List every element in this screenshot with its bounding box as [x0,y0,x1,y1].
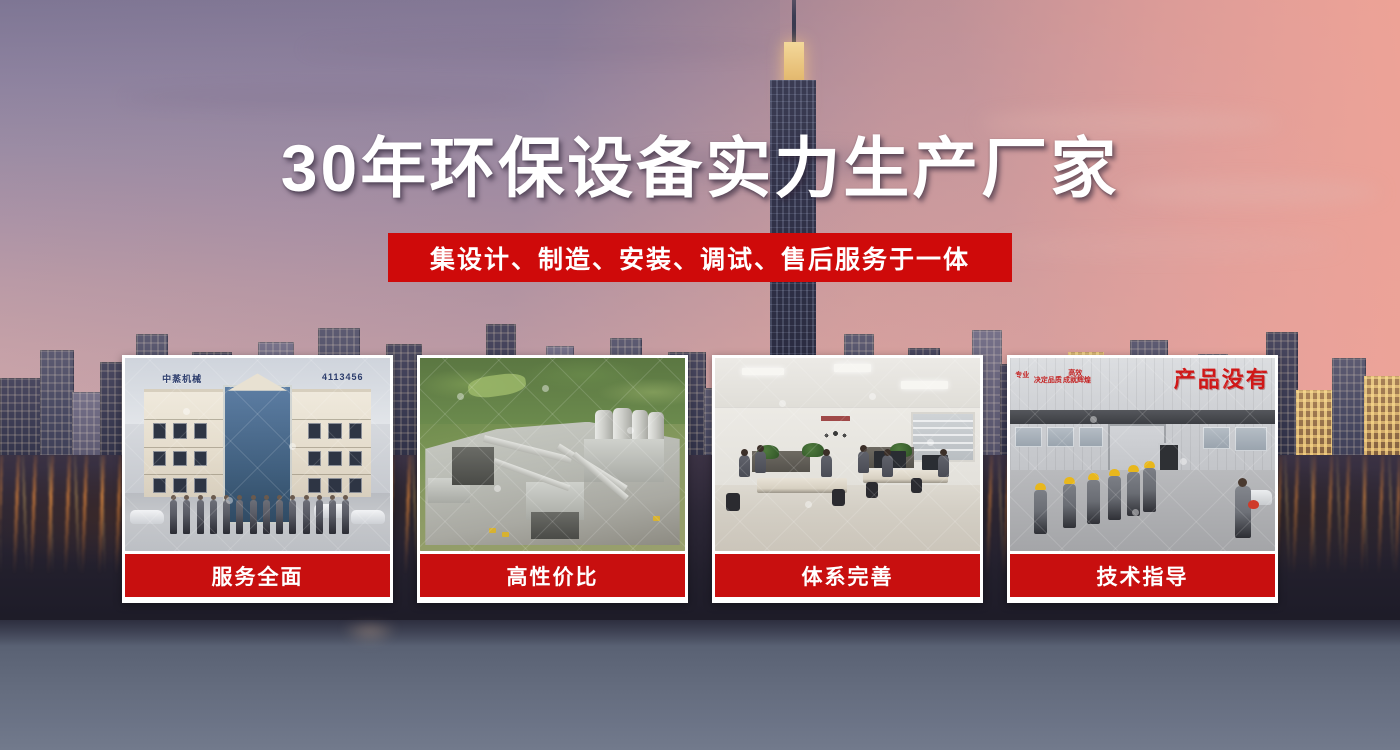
page-title: 30年环保设备实力生产厂家 [0,134,1400,203]
card-caption: 服务全面 [122,554,393,600]
feature-card[interactable]: 中蒸机械 4113456 [122,355,393,603]
cloud-shape [300,40,800,58]
factory-slogan: 成就辉煌 [1063,377,1091,384]
subtitle-banner: 集设计、制造、安装、调试、售后服务于一体 [388,233,1012,282]
industrial-plant-aerial-photo [417,355,688,554]
building-phone-text: 4113456 [322,372,364,382]
card-caption: 技术指导 [1007,554,1278,600]
factory-wall-text: 产品没有 [1174,362,1270,394]
cloud-shape [120,88,540,108]
factory-slogan: 高效 [1068,370,1082,377]
company-headquarters-photo: 中蒸机械 4113456 [122,355,393,554]
workshop-training-photo: 产品没有 专业 决定品质 高效 成就辉煌 [1007,355,1278,554]
water-reflection [330,625,410,685]
river-water [0,620,1400,750]
subtitle-text: 集设计、制造、安装、调试、售后服务于一体 [430,240,970,276]
feature-card[interactable]: 体系完善 [712,355,983,603]
building-sign-text: 中蒸机械 [162,372,202,385]
promo-banner: 30年环保设备实力生产厂家 集设计、制造、安装、调试、售后服务于一体 [0,0,1400,750]
tower-spire [792,0,796,48]
card-caption: 体系完善 [712,554,983,600]
office-interior-photo [712,355,983,554]
factory-slogan: 决定品质 [1034,377,1062,384]
feature-card-list: 中蒸机械 4113456 [122,355,1278,603]
factory-slogan: 专业 [1015,372,1029,379]
feature-card[interactable]: 高性价比 [417,355,688,603]
feature-card[interactable]: 产品没有 专业 决定品质 高效 成就辉煌 [1007,355,1278,603]
card-caption: 高性价比 [417,554,688,600]
